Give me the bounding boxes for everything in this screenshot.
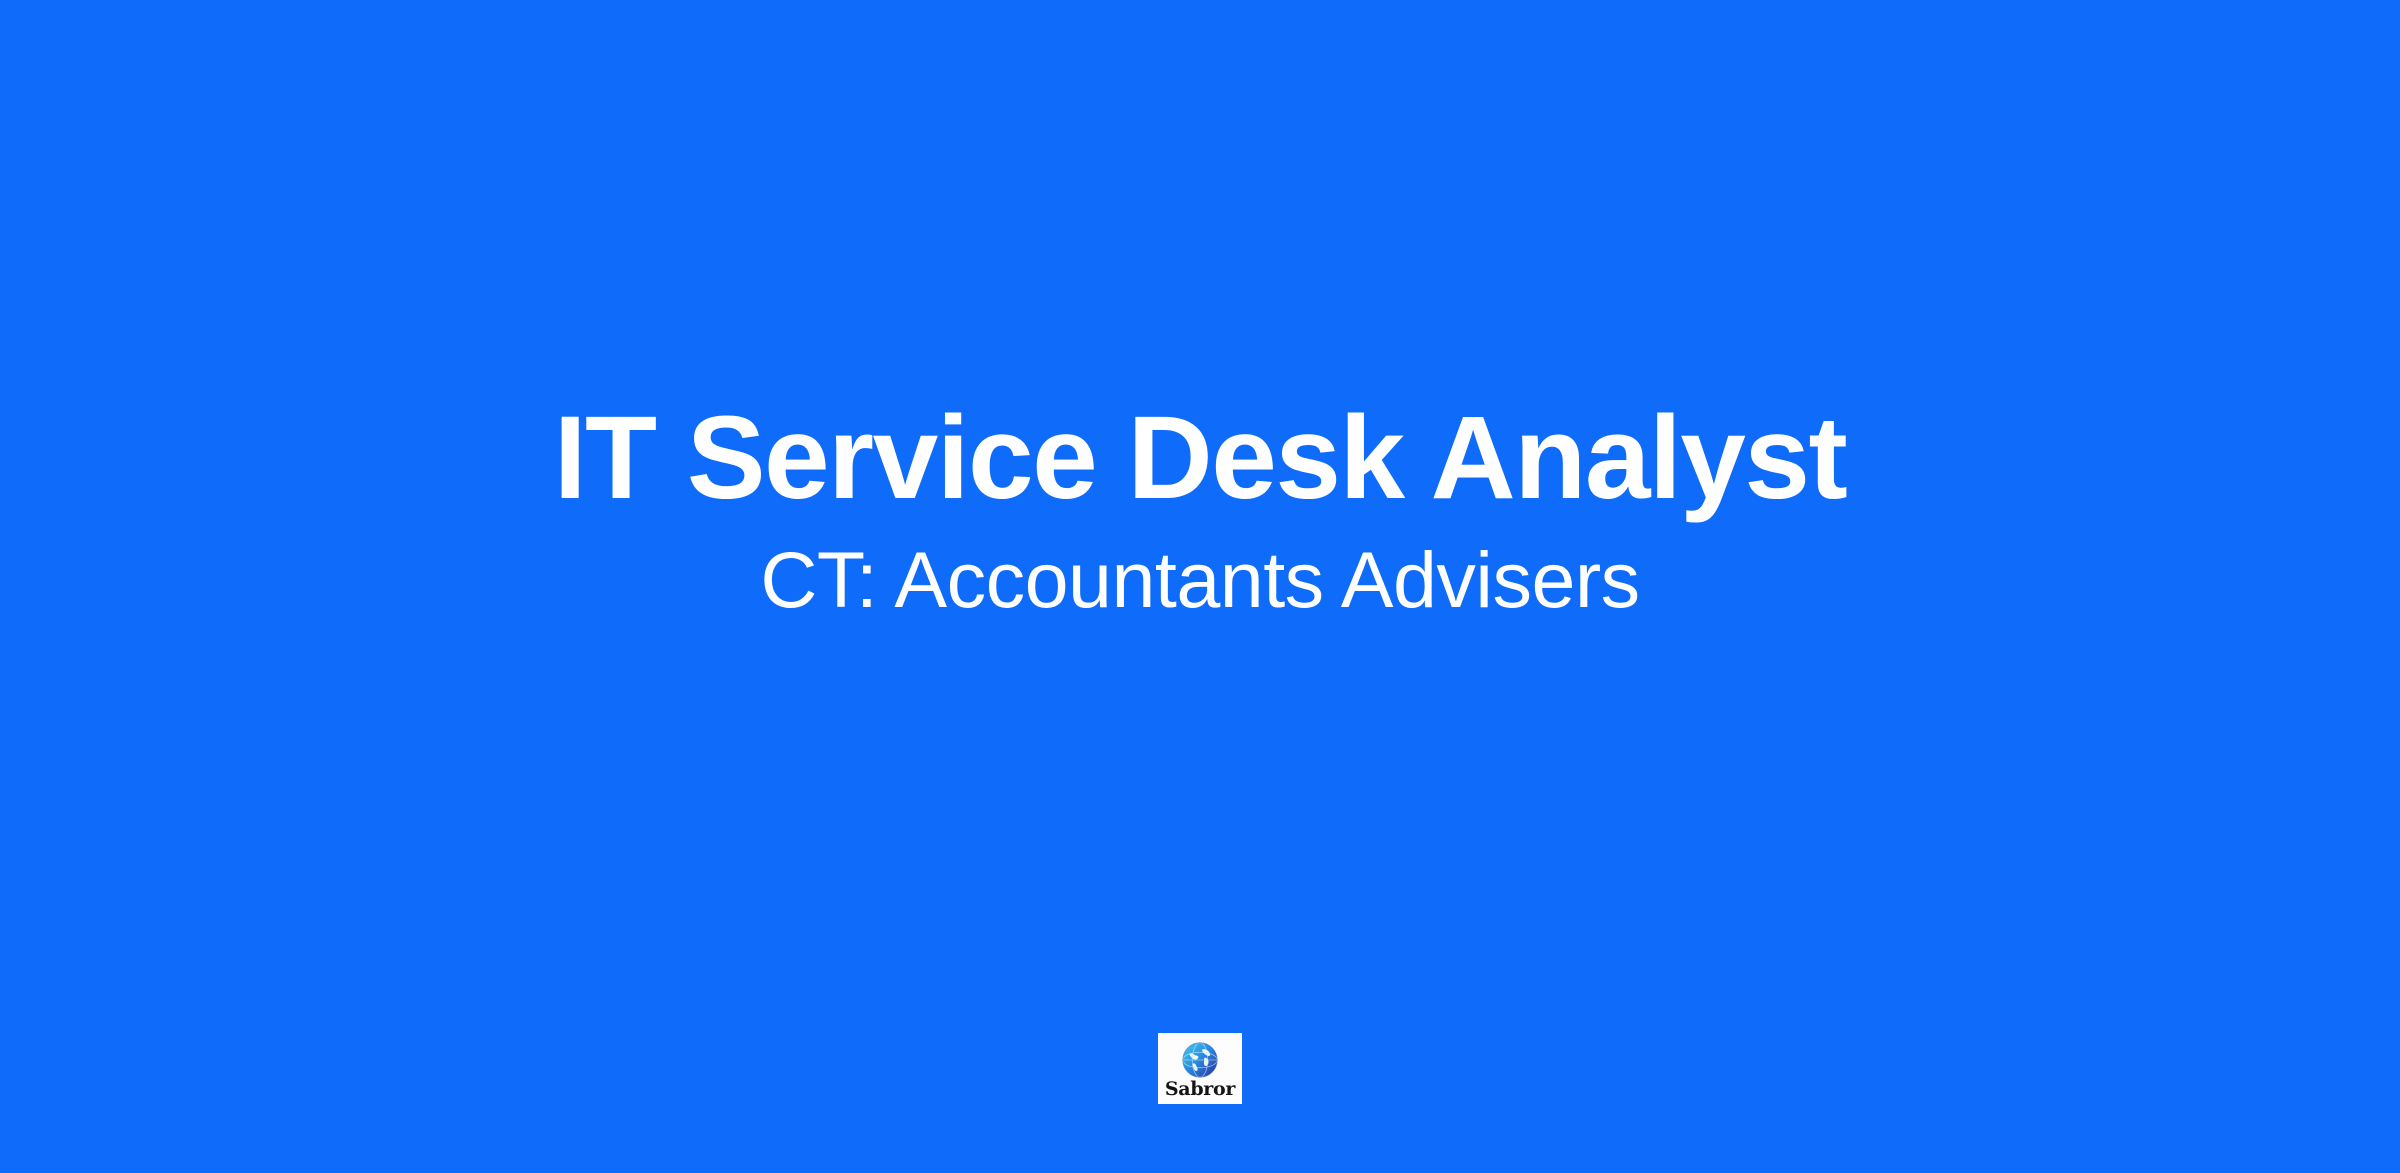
job-posting-hero: IT Service Desk Analyst CT: Accountants … xyxy=(0,0,2400,1173)
company-logo: Sabror xyxy=(1158,1033,1242,1104)
logo-wordmark: Sabror xyxy=(1165,1080,1235,1099)
hero-text-block: IT Service Desk Analyst CT: Accountants … xyxy=(0,396,2400,624)
company-name: CT: Accountants Advisers xyxy=(760,537,1639,624)
page-title: IT Service Desk Analyst xyxy=(554,396,1847,521)
globe-icon xyxy=(1181,1041,1219,1079)
